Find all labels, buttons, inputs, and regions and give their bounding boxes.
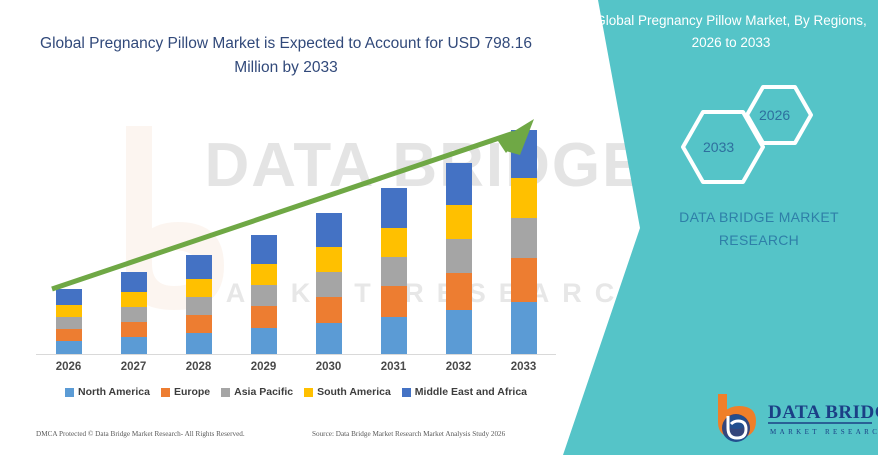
x-tick-2030: 2030 xyxy=(316,361,342,373)
bar-segment xyxy=(381,257,407,286)
bar-2033 xyxy=(511,130,537,354)
x-axis-ticks: 20262027202820292030203120322033 xyxy=(36,356,556,378)
svg-text:DATA BRIDGE: DATA BRIDGE xyxy=(768,402,878,423)
bar-segment xyxy=(446,163,472,205)
bar-segment xyxy=(316,272,342,297)
legend-label: Middle East and Africa xyxy=(415,386,527,398)
plot-area xyxy=(36,103,556,355)
bar-segment xyxy=(56,329,82,341)
bar-segment xyxy=(446,273,472,310)
legend-item[interactable]: North America xyxy=(65,386,150,398)
svg-text:MARKET RESEARCH: MARKET RESEARCH xyxy=(770,428,878,436)
bar-segment xyxy=(251,235,277,264)
side-panel-title: Global Pregnancy Pillow Market, By Regio… xyxy=(592,10,870,53)
bar-2030 xyxy=(316,213,342,354)
bar-segment xyxy=(251,328,277,354)
bar-segment xyxy=(381,188,407,228)
bar-2029 xyxy=(251,235,277,354)
legend-item[interactable]: Middle East and Africa xyxy=(402,386,527,398)
bar-segment xyxy=(316,213,342,247)
bar-segment xyxy=(121,337,147,354)
bar-segment xyxy=(121,322,147,337)
x-tick-2031: 2031 xyxy=(381,361,407,373)
x-tick-2027: 2027 xyxy=(121,361,147,373)
stacked-bar-chart xyxy=(36,100,556,355)
legend-swatch-icon xyxy=(65,388,74,397)
data-bridge-logo-icon: DATA BRIDGE MARKET RESEARCH xyxy=(706,392,878,444)
x-tick-2028: 2028 xyxy=(186,361,212,373)
legend-swatch-icon xyxy=(161,388,170,397)
bar-segment xyxy=(186,255,212,279)
bar-segment xyxy=(56,289,82,305)
bar-segment xyxy=(251,306,277,328)
hex-label-end-year: 2026 xyxy=(759,107,790,123)
bar-segment xyxy=(121,272,147,292)
bar-segment xyxy=(186,279,212,297)
bar-segment xyxy=(511,302,537,354)
brand-line-2: RESEARCH xyxy=(719,232,799,248)
legend-label: North America xyxy=(78,386,150,398)
left-panel: Global Pregnancy Pillow Market is Expect… xyxy=(0,0,600,455)
copyright-notice: DMCA Protected © Data Bridge Market Rese… xyxy=(36,430,245,438)
bar-2027 xyxy=(121,272,147,354)
x-tick-2029: 2029 xyxy=(251,361,277,373)
bar-segment xyxy=(251,285,277,306)
legend-item[interactable]: Asia Pacific xyxy=(221,386,293,398)
bar-segment xyxy=(511,258,537,302)
x-tick-2033: 2033 xyxy=(511,361,537,373)
bar-segment xyxy=(251,264,277,285)
brand-line-1: DATA BRIDGE MARKET xyxy=(679,209,839,225)
bar-segment xyxy=(446,310,472,354)
legend-label: South America xyxy=(317,386,391,398)
bar-segment xyxy=(56,305,82,317)
bar-segment xyxy=(56,341,82,354)
infographic-root: DATA BRIDGE MARKET RESEARCH Global Pregn… xyxy=(0,0,878,455)
bar-segment xyxy=(511,130,537,178)
bar-segment xyxy=(316,323,342,354)
page-title: Global Pregnancy Pillow Market is Expect… xyxy=(36,32,536,80)
bar-2028 xyxy=(186,255,212,354)
bar-segment xyxy=(121,292,147,307)
legend-label: Asia Pacific xyxy=(234,386,293,398)
bar-2031 xyxy=(381,188,407,354)
bar-segment xyxy=(316,297,342,323)
legend-swatch-icon xyxy=(221,388,230,397)
bar-segment xyxy=(186,297,212,315)
legend-swatch-icon xyxy=(304,388,313,397)
brand-name: DATA BRIDGE MARKETRESEARCH xyxy=(640,206,878,252)
bar-segment xyxy=(186,315,212,333)
bar-2032 xyxy=(446,163,472,354)
bar-2026 xyxy=(56,289,82,354)
bar-segment xyxy=(511,178,537,218)
x-tick-2026: 2026 xyxy=(56,361,82,373)
chart-legend: North AmericaEuropeAsia PacificSouth Ame… xyxy=(36,386,556,398)
bar-group xyxy=(36,102,556,354)
bar-segment xyxy=(381,317,407,354)
legend-item[interactable]: South America xyxy=(304,386,391,398)
bar-segment xyxy=(446,239,472,273)
bar-segment xyxy=(186,333,212,354)
legend-label: Europe xyxy=(174,386,210,398)
hexagon-outline-icon xyxy=(655,82,878,192)
bar-segment xyxy=(56,317,82,329)
source-notice: Source: Data Bridge Market Research Mark… xyxy=(312,430,505,438)
bar-segment xyxy=(511,218,537,258)
legend-swatch-icon xyxy=(402,388,411,397)
hex-label-start-year: 2033 xyxy=(703,139,734,155)
bar-segment xyxy=(446,205,472,239)
bar-segment xyxy=(381,286,407,317)
bar-segment xyxy=(381,228,407,257)
legend-item[interactable]: Europe xyxy=(161,386,210,398)
bar-segment xyxy=(316,247,342,272)
hexagon-badges: 2026 2033 xyxy=(655,82,878,192)
x-tick-2032: 2032 xyxy=(446,361,472,373)
bar-segment xyxy=(121,307,147,322)
